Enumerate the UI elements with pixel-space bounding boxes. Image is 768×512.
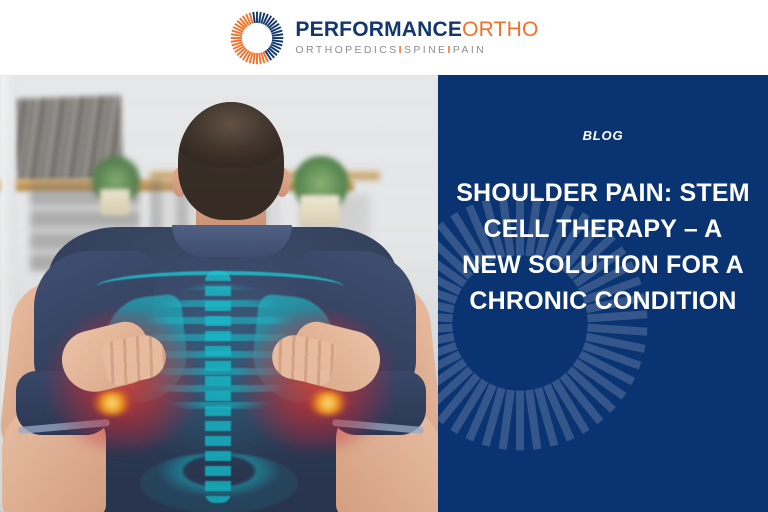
logo-name-primary: PERFORMANCE bbox=[295, 18, 462, 41]
hero-text-panel: BLOG SHOULDER PAIN: STEM CELL THERAPY – … bbox=[438, 75, 768, 512]
hero-text-content: BLOG SHOULDER PAIN: STEM CELL THERAPY – … bbox=[438, 75, 768, 512]
logo-tagline-item-spine: SPINE bbox=[404, 44, 448, 56]
radial-sunburst-logo-icon bbox=[229, 10, 285, 66]
logo-wordmark: PERFORMANCEORTHO ORTHOPEDICSISPINEIPAIN bbox=[295, 19, 538, 56]
hero-kicker: BLOG bbox=[583, 128, 624, 143]
blog-hero-page: PERFORMANCEORTHO ORTHOPEDICSISPINEIPAIN bbox=[0, 0, 768, 512]
site-header: PERFORMANCEORTHO ORTHOPEDICSISPINEIPAIN bbox=[0, 0, 768, 75]
logo-name: PERFORMANCEORTHO bbox=[295, 19, 538, 40]
logo-tagline-item-orthopedics: ORTHOPEDICS bbox=[295, 44, 398, 56]
hands-on-shoulders bbox=[0, 75, 438, 512]
hero-section: BLOG SHOULDER PAIN: STEM CELL THERAPY – … bbox=[0, 75, 768, 512]
page-title: SHOULDER PAIN: STEM CELL THERAPY – A NEW… bbox=[453, 175, 753, 319]
site-logo[interactable]: PERFORMANCEORTHO ORTHOPEDICSISPINEIPAIN bbox=[229, 10, 538, 66]
man-back-shoulder-pain-skeleton-overlay bbox=[0, 75, 438, 512]
logo-tagline-item-pain: PAIN bbox=[453, 44, 486, 56]
logo-tagline: ORTHOPEDICSISPINEIPAIN bbox=[295, 45, 538, 56]
logo-name-secondary: ORTHO bbox=[462, 18, 538, 41]
